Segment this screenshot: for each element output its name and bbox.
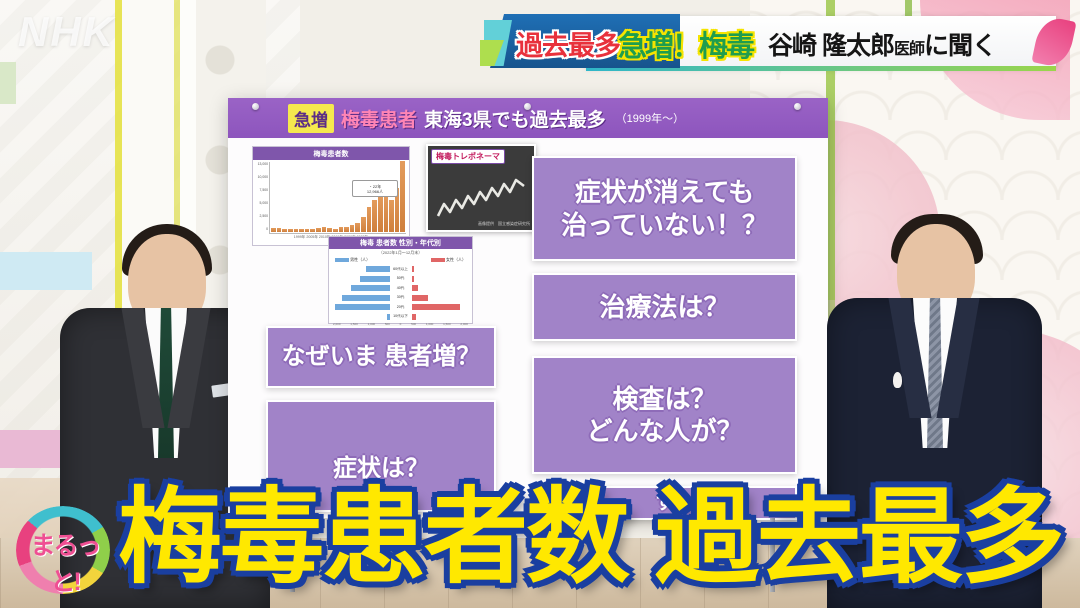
program-topic-banner: 過去最多 急増！梅毒 谷崎 隆太郎医師に聞く [490, 14, 1070, 70]
microscope-label: 梅毒トレポネーマ [431, 149, 505, 164]
chart2-bar-female [412, 314, 417, 320]
wall-panel-mint [0, 62, 16, 104]
chart1-plot-area: ・22年 12,966人 [269, 162, 406, 234]
chart2-row: 20代 [334, 303, 467, 311]
chart2-age-label: 10代以下 [390, 314, 412, 319]
chart1-bar [389, 200, 394, 232]
chart1-bar [271, 228, 276, 232]
chart2-row: 10代以下 [334, 313, 467, 321]
chart2-legend-male: 男性（人） [335, 257, 370, 263]
chart1-y-tick: 13,000 [258, 162, 268, 166]
chart1-bar [294, 229, 299, 232]
chart2-age-label: 60代以上 [390, 267, 412, 272]
chart2-row: 60代以上 [334, 265, 467, 273]
chart2-age-label: 50代 [390, 276, 412, 281]
chart1-bar [378, 194, 383, 232]
chart2-subtitle: （2022年1月～12月末） [329, 250, 472, 256]
chart2-row: 40代 [334, 284, 467, 292]
chart1-bar [333, 229, 338, 232]
chart1-bar [355, 223, 360, 232]
chart1-bar [288, 229, 293, 232]
broadcast-screenshot: NHK 急増 梅毒患者 東海3県でも過去最多 （1999年～） 梅毒患者数 13… [0, 0, 1080, 608]
question-box-treatment[interactable]: 治療法は？ [532, 273, 797, 341]
chart1-y-tick: 0 [266, 227, 268, 231]
chart1-y-tick: 7,500 [260, 188, 269, 192]
question-testing-line1: 検査は？ [586, 383, 742, 416]
chart1-bar [339, 227, 344, 232]
chart1-y-axis: 13,00010,0007,5005,0002,5000 [254, 162, 269, 234]
chart2-bar-male [335, 304, 389, 310]
chart2-bar-female [412, 295, 428, 301]
microscope-credit: 画像提供 国立感染症研究所 [478, 221, 530, 227]
microscope-photo: 梅毒トレポネーマ 画像提供 国立感染症研究所 [426, 144, 536, 232]
question-why-now-line1: なぜいま 患者増？ [282, 342, 481, 372]
chart2-row: 30代 [334, 294, 467, 302]
banner-headline: 急増！梅毒 [618, 23, 753, 65]
chart2-age-label: 20代 [390, 305, 412, 310]
presenter-right-lapel-pin [893, 372, 902, 388]
chart2-bar-male [360, 276, 390, 282]
chart1-bar [277, 228, 282, 232]
chart2-bar-female [412, 276, 415, 282]
banner-badge-record-high: 過去最多 [516, 24, 620, 63]
chart1-y-tick: 5,000 [260, 201, 269, 205]
question-treatment-line1: 治療法は？ [599, 291, 729, 324]
chart1-bar [350, 225, 355, 232]
chart2-bar-male [366, 266, 389, 272]
chart2-bar-male [351, 285, 389, 291]
chart1-bar [400, 161, 405, 232]
chart1-bar [316, 228, 321, 232]
question-box-why-now[interactable]: なぜいま 患者増？ [266, 326, 496, 388]
chart1-bar [384, 196, 389, 232]
chart1-bar [344, 227, 349, 232]
program-logo-text: まるっと! [22, 526, 108, 598]
banner-guest-suffix: に聞く [924, 32, 996, 60]
nhk-watermark-logo: NHK [18, 8, 115, 56]
chart2-title: 梅毒 患者数 性別・年代別 [329, 237, 472, 249]
question-symptom-gone-line2: 治っていない！？ [561, 209, 768, 242]
question-symptom-gone-line1: 症状が消えても [561, 176, 768, 209]
board-header-note: （1999年～） [616, 110, 684, 126]
board-pin-1 [252, 103, 259, 110]
question-box-testing[interactable]: 検査は？ どんな人が？ [532, 356, 797, 474]
chart1-bar [367, 207, 372, 232]
chart1-annotation-line2: 12,966人 [367, 189, 383, 194]
lower-third-headline: 梅毒患者数 過去最多 [118, 484, 1078, 594]
banner-guest-name: 谷崎 隆太郎 [768, 32, 894, 60]
chart1-bar [327, 228, 332, 232]
presentation-board: 急増 梅毒患者 東海3県でも過去最多 （1999年～） 梅毒患者数 13,000… [228, 98, 828, 518]
banner-guest: 谷崎 隆太郎医師に聞く [768, 26, 996, 62]
board-pin-3 [794, 103, 801, 110]
chart1-bar [372, 200, 377, 232]
chart2-age-label: 30代 [390, 295, 412, 300]
chart2-row: 50代 [334, 275, 467, 283]
chart1-y-tick: 2,500 [260, 214, 269, 218]
chart1-annotation: ・22年 12,966人 [352, 180, 398, 197]
chart2-legend-female: 女性（人） [431, 257, 466, 263]
chart1-bar [322, 227, 327, 232]
program-logo: まるっと! [6, 498, 130, 602]
board-header-statement: 東海3県でも過去最多 [424, 105, 606, 132]
chart1-bar [299, 229, 304, 232]
board-pin-2 [524, 103, 531, 110]
chart1-bar [305, 229, 310, 232]
chart2-rows: 60代以上50代40代30代20代10代以下 [329, 263, 472, 321]
chart1-bar [361, 217, 366, 232]
chart2-bar-female [412, 304, 461, 310]
chart2-bar-female [412, 285, 419, 291]
question-box-symptom-gone[interactable]: 症状が消えても 治っていない！？ [532, 156, 797, 261]
chart2-bar-male [342, 295, 389, 301]
chart1-bar [310, 229, 315, 232]
chart2-bar-female [412, 266, 414, 272]
chart1-bar [282, 229, 287, 232]
chart2-age-label: 40代 [390, 286, 412, 291]
chart1-y-tick: 10,000 [258, 175, 268, 179]
chart-patients-by-sex-and-age: 梅毒 患者数 性別・年代別 （2022年1月～12月末） 男性（人） 女性（人）… [328, 236, 473, 324]
treponema-spiral-icon [436, 174, 530, 220]
board-header-subject: 梅毒患者 [341, 105, 417, 132]
chart-yearly-patient-count: 梅毒患者数 13,00010,0007,5005,0002,5000 ・22年 … [252, 146, 410, 246]
question-testing-line2: どんな人が？ [586, 415, 742, 448]
banner-guest-title: 医師 [894, 41, 924, 58]
chart1-title: 梅毒患者数 [253, 147, 409, 160]
board-header-badge: 急増 [288, 104, 334, 133]
